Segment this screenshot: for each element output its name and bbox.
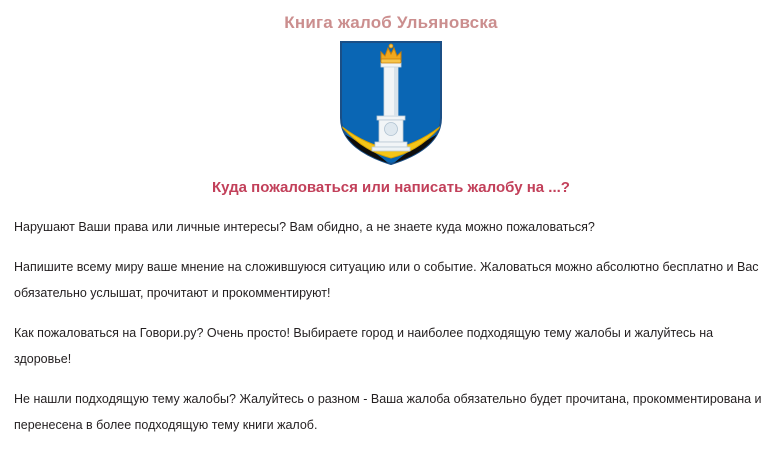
page-root: Книга жалоб Ульяновска bbox=[0, 0, 782, 450]
paragraph-4: Не нашли подходящую тему жалобы? Жалуйте… bbox=[14, 386, 768, 438]
body-copy: Нарушают Ваши права или личные интересы?… bbox=[0, 214, 782, 438]
column-shaft-shade bbox=[394, 66, 398, 116]
emblem-container bbox=[0, 40, 782, 170]
paragraph-1: Нарушают Ваши права или личные интересы?… bbox=[14, 214, 768, 240]
paragraph-3: Как пожаловаться на Говори.ру? Очень про… bbox=[14, 320, 768, 372]
page-title: Книга жалоб Ульяновска bbox=[0, 0, 782, 34]
paragraph-2: Напишите всему миру ваше мнение на сложи… bbox=[14, 254, 768, 306]
coat-of-arms-of-ulyanovsk-icon bbox=[339, 40, 443, 166]
section-title: Куда пожаловаться или написать жалобу на… bbox=[0, 170, 782, 198]
